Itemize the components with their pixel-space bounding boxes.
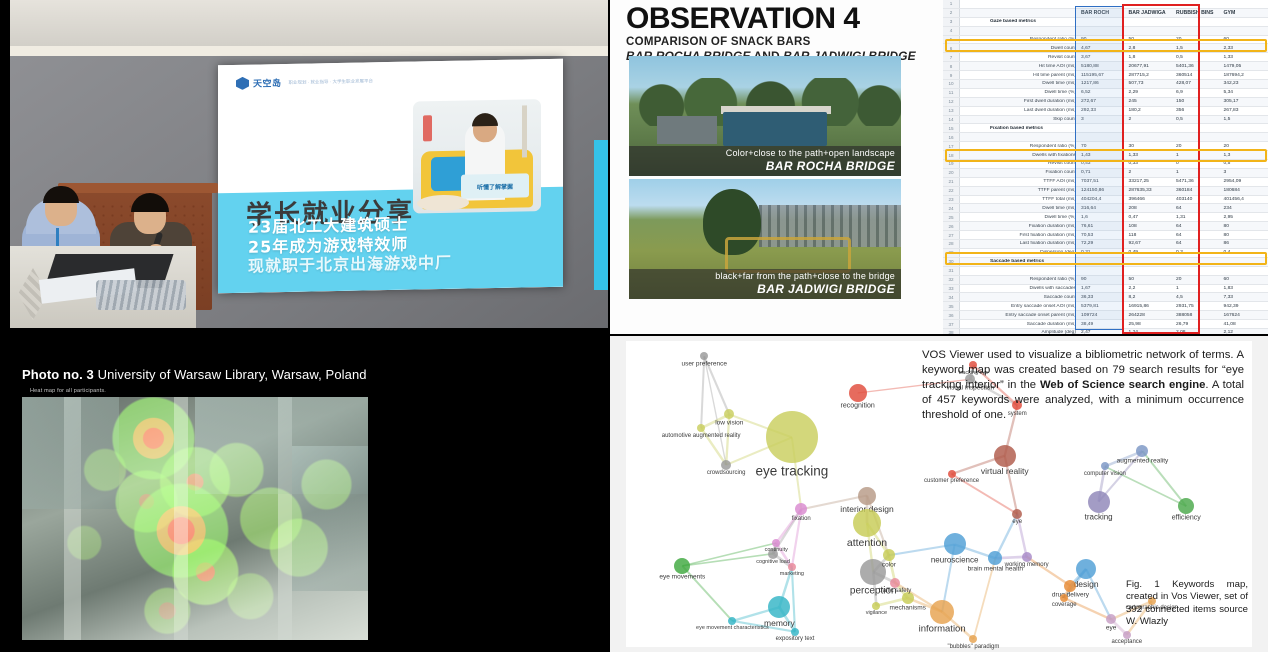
cell[interactable]: 33217,25 — [1126, 179, 1174, 184]
row-number: 30 — [943, 258, 960, 266]
row-number: 33 — [943, 285, 960, 293]
network-node[interactable] — [883, 549, 895, 561]
row-label: Dwell time (%) — [960, 215, 1078, 220]
cell[interactable]: 1,8 — [1126, 55, 1174, 60]
cell[interactable]: 0,43 — [1078, 161, 1126, 166]
heatmap-caption: Heat map for all participants. — [30, 388, 106, 394]
network-node[interactable] — [788, 563, 796, 571]
row-label: Fixation count — [960, 170, 1078, 175]
cell[interactable]: 64 — [1173, 241, 1221, 246]
cell[interactable]: 316,64 — [1078, 206, 1126, 211]
row-number: 37 — [943, 320, 960, 328]
row-number: 18 — [943, 151, 960, 159]
spreadsheet-row[interactable]: 15Fixation based metrics — [943, 124, 1268, 133]
cell[interactable]: 5,34 — [1221, 90, 1268, 95]
cell[interactable]: 2,29 — [1126, 90, 1174, 95]
cell[interactable]: 26,79 — [1173, 322, 1221, 327]
network-node[interactable] — [930, 600, 954, 624]
heatmap-title: Photo no. 3 University of Warsaw Library… — [22, 367, 367, 382]
spreadsheet-row[interactable]: 33Dwells with saccades1,672,211,83 — [943, 285, 1268, 294]
cell[interactable]: 388058 — [1173, 313, 1221, 318]
cell[interactable]: 1,5 — [1221, 117, 1268, 122]
cell[interactable]: 5401,36 — [1173, 64, 1221, 69]
row-number: 31 — [943, 267, 960, 275]
spreadsheet-row[interactable]: 20Fixation count0,71213 — [943, 169, 1268, 178]
row-label: Saccade based metrics — [960, 259, 1108, 264]
spreadsheet-row[interactable]: 6Dwell count4,672,81,52,33 — [943, 44, 1268, 53]
cell[interactable]: 208 — [1126, 206, 1174, 211]
row-number: 1 — [943, 0, 960, 8]
cell[interactable]: 1 — [1173, 153, 1221, 158]
network-node[interactable] — [768, 549, 778, 559]
cell[interactable]: 0 — [1173, 161, 1221, 166]
screenshot-collage: 天空岛 职业规划 · 就业指导 · 大学生职业发展平台 学长就业分享 23届北工… — [0, 0, 1268, 652]
network-node[interactable] — [890, 578, 900, 588]
cell[interactable]: 0,5 — [1173, 117, 1221, 122]
network-node[interactable] — [674, 558, 690, 574]
row-number: 29 — [943, 249, 960, 257]
cell[interactable]: 1 — [1173, 286, 1221, 291]
spreadsheet-row[interactable]: 28Last fixation duration (ms)72,2992,676… — [943, 240, 1268, 249]
photo-bar-rocha: Color+close to the path+open landscape B… — [629, 56, 901, 176]
row-number: 25 — [943, 213, 960, 221]
cell[interactable]: 0,5 — [1221, 161, 1268, 166]
cell[interactable]: 0,47 — [1126, 215, 1174, 220]
cell[interactable]: 20677,91 — [1126, 64, 1174, 69]
network-node[interactable] — [849, 384, 867, 402]
spreadsheet-row[interactable]: 8Hit time AOI (ms)5180,8820677,915401,36… — [943, 62, 1268, 71]
spreadsheet-row[interactable]: 38Amplitude (deg)2,471,242,082,12 — [943, 329, 1268, 334]
spreadsheet-row[interactable]: 23TTFF total (ms)404204,4396466403140401… — [943, 196, 1268, 205]
cell[interactable]: RUBBISH BINS — [1173, 10, 1221, 16]
spreadsheet-row[interactable]: 22TTFF parent (ms)124150,86287635,333601… — [943, 187, 1268, 196]
spreadsheet-row[interactable]: 10Dwell time (ms)1217,86507,73428,07342,… — [943, 80, 1268, 89]
network-node[interactable] — [1088, 491, 1110, 513]
spreadsheet-row[interactable]: 9Hit time parent (ms)115195,67287715,236… — [943, 71, 1268, 80]
cell[interactable]: 292,33 — [1078, 108, 1126, 113]
row-label: Entry saccade onset AOI (ms) — [960, 304, 1078, 309]
spreadsheet-row[interactable]: 34Saccade count36,338,24,57,33 — [943, 293, 1268, 302]
cell[interactable]: 180684 — [1221, 188, 1268, 193]
row-number: 22 — [943, 187, 960, 195]
network-node[interactable] — [728, 617, 736, 625]
row-number: 3 — [943, 18, 960, 26]
cell[interactable]: 2954,09 — [1221, 179, 1268, 184]
cell[interactable]: BAR JADWIGA — [1126, 10, 1174, 16]
cell[interactable]: 5180,88 — [1078, 64, 1126, 69]
row-label: Dwells with fixations — [960, 153, 1078, 158]
spreadsheet-row[interactable]: 24Dwell time (ms)316,6420864234 — [943, 204, 1268, 213]
cell[interactable]: 2 — [1126, 170, 1174, 175]
cell[interactable]: 72,29 — [1078, 241, 1126, 246]
row-label: Respondent ratio (%) — [960, 37, 1078, 42]
cell[interactable]: 20 — [1173, 37, 1221, 42]
row-number: 21 — [943, 178, 960, 186]
row-label: Gaze based metrics — [960, 19, 1108, 24]
spreadsheet-row[interactable]: 14Skip count320,51,5 — [943, 116, 1268, 125]
cell[interactable]: 115195,67 — [1078, 73, 1126, 78]
lecture-hall-photo: 天空岛 职业规划 · 就业指导 · 大学生职业发展平台 学长就业分享 23届北工… — [0, 0, 608, 334]
cell[interactable]: 25,98 — [1126, 322, 1174, 327]
row-number: 9 — [943, 71, 960, 79]
vos-viewer-slide: eye trackingvirtual realityinterior desi… — [626, 341, 1252, 647]
network-node[interactable] — [1101, 462, 1109, 470]
cell[interactable]: 80 — [1221, 233, 1268, 238]
row-label: Hit time AOI (ms) — [960, 64, 1078, 69]
cell[interactable]: 6,9 — [1173, 90, 1221, 95]
wall-upper — [0, 0, 608, 46]
network-node[interactable] — [1022, 552, 1032, 562]
spreadsheet-row[interactable]: 19Revisit count0,430,3300,5 — [943, 160, 1268, 169]
cell[interactable]: 2,33 — [1221, 46, 1268, 51]
photo-caption-name: BAR JADWIGI BRIDGE — [635, 282, 895, 296]
network-node[interactable] — [853, 509, 881, 537]
spreadsheet-row[interactable]: 5Respondent ratio (%)90502060 — [943, 36, 1268, 45]
cell[interactable]: 50 — [1126, 37, 1174, 42]
cell[interactable]: 90 — [1078, 37, 1126, 42]
heatmap-title-rest: University of Warsaw Library, Warsaw, Po… — [94, 367, 367, 382]
cell[interactable]: 1479,05 — [1221, 64, 1268, 69]
cell[interactable]: 180,2 — [1126, 108, 1174, 113]
row-number: 4 — [943, 27, 960, 35]
row-label: TTFF parent (ms) — [960, 188, 1078, 193]
cell[interactable]: 30 — [1126, 144, 1174, 149]
network-node[interactable] — [948, 470, 956, 478]
network-node[interactable] — [1136, 445, 1148, 457]
spreadsheet-row[interactable]: 7Revisit count3,671,80,51,33 — [943, 53, 1268, 62]
cell[interactable]: 150 — [1173, 99, 1221, 104]
cell[interactable]: 3 — [1221, 170, 1268, 175]
row-number: 12 — [943, 98, 960, 106]
cell[interactable]: 50 — [1126, 277, 1174, 282]
spreadsheet-row[interactable]: 26Fixation duration (ms)76,611086480 — [943, 222, 1268, 231]
spreadsheet-row[interactable]: 16 — [943, 133, 1268, 142]
cell[interactable]: 118 — [1126, 233, 1174, 238]
row-label: Fixation based metrics — [960, 126, 1108, 131]
network-node[interactable] — [766, 411, 818, 463]
cell[interactable]: 1,33 — [1126, 153, 1174, 158]
observation-subtitle: COMPARISON OF SNACK BARS — [626, 36, 926, 48]
network-node[interactable] — [1012, 509, 1022, 519]
cell[interactable]: 1,43 — [1078, 153, 1126, 158]
row-number: 11 — [943, 89, 960, 97]
gaze-heat-overlay — [22, 397, 368, 640]
cell[interactable]: 0,71 — [1078, 170, 1126, 175]
row-number: 2 — [943, 9, 960, 17]
cell[interactable]: 2931,75 — [1173, 304, 1221, 309]
quadrant-vos-viewer-slide: eye trackingvirtual realityinterior desi… — [610, 336, 1268, 652]
network-node[interactable] — [1178, 498, 1194, 514]
row-label: Respondent ratio (%) — [960, 144, 1078, 149]
spreadsheet-row[interactable]: 27First fixation duration (ms)70,5311864… — [943, 231, 1268, 240]
cell[interactable]: 360514 — [1173, 73, 1221, 78]
cell[interactable]: 1,24 — [1126, 330, 1174, 334]
cell[interactable]: 60 — [1221, 37, 1268, 42]
network-node[interactable] — [994, 445, 1016, 467]
network-node[interactable] — [1076, 559, 1096, 579]
spreadsheet-row[interactable]: 29Dispersion (deg)0,310,490,30,4 — [943, 249, 1268, 258]
row-label: Dwell time (ms) — [960, 206, 1078, 211]
cell[interactable]: 4,5 — [1173, 295, 1221, 300]
row-label: Last fixation duration (ms) — [960, 241, 1078, 246]
cell[interactable]: 36,33 — [1078, 295, 1126, 300]
photo-bar-jadwigi: black+far from the path+close to the bri… — [629, 179, 901, 299]
network-node[interactable] — [795, 503, 807, 515]
cell[interactable]: 20 — [1221, 144, 1268, 149]
cell[interactable]: 7,33 — [1221, 295, 1268, 300]
row-label: First dwell duration (ms) — [960, 99, 1078, 104]
cell[interactable]: 267,83 — [1221, 108, 1268, 113]
cell[interactable]: 1,67 — [1078, 286, 1126, 291]
row-number: 20 — [943, 169, 960, 177]
cell[interactable]: 6,52 — [1078, 90, 1126, 95]
cell[interactable]: 245 — [1126, 99, 1174, 104]
cell[interactable]: 305,17 — [1221, 99, 1268, 104]
row-label: TTFF AOI (ms) — [960, 179, 1078, 184]
network-node[interactable] — [858, 487, 876, 505]
spreadsheet-row[interactable]: 30Saccade based metrics — [943, 258, 1268, 267]
cell[interactable]: 1217,86 — [1078, 81, 1126, 86]
cell[interactable]: 76,61 — [1078, 224, 1126, 229]
row-number: 34 — [943, 293, 960, 301]
row-label: Entry saccade onset parent (ms) — [960, 313, 1078, 318]
cell[interactable]: 4,67 — [1078, 46, 1126, 51]
cell[interactable]: 428,07 — [1173, 81, 1221, 86]
cell[interactable]: 64 — [1173, 224, 1221, 229]
cell[interactable]: 8,2 — [1126, 295, 1174, 300]
row-label: Dispersion (deg) — [960, 250, 1078, 255]
network-node[interactable] — [969, 635, 977, 643]
network-node[interactable] — [768, 596, 790, 618]
slide-inset-photo: 听懂了解掌握 — [413, 99, 541, 213]
cell[interactable]: 360184 — [1173, 188, 1221, 193]
logo-text: 天空岛 — [253, 76, 282, 90]
cell[interactable]: 356 — [1173, 108, 1221, 113]
cell[interactable]: 1,3 — [1221, 153, 1268, 158]
spreadsheet-row[interactable]: 3Gaze based metrics — [943, 18, 1268, 27]
cell[interactable]: 108 — [1126, 224, 1174, 229]
row-number: 36 — [943, 311, 960, 319]
cell[interactable]: 0,4 — [1221, 250, 1268, 255]
cell[interactable]: 1,6 — [1078, 215, 1126, 220]
row-number: 27 — [943, 231, 960, 239]
spreadsheet-row[interactable]: 35Entry saccade onset AOI (ms)5379,81169… — [943, 302, 1268, 311]
row-label: Revisit count — [960, 55, 1078, 60]
cell[interactable]: 2,47 — [1078, 330, 1126, 334]
cell[interactable]: 38,49 — [1078, 322, 1126, 327]
cell[interactable]: 124150,86 — [1078, 188, 1126, 193]
spreadsheet-row[interactable]: 25Dwell time (%)1,60,471,312,95 — [943, 213, 1268, 222]
cell[interactable]: 1,83 — [1221, 286, 1268, 291]
network-node[interactable] — [872, 602, 880, 610]
network-node[interactable] — [988, 551, 1002, 565]
wall-trim — [0, 46, 608, 56]
cell[interactable]: 342,23 — [1221, 81, 1268, 86]
row-number: 5 — [943, 36, 960, 44]
network-node[interactable] — [1060, 594, 1068, 602]
logo-cube-icon — [236, 77, 249, 90]
cell[interactable]: 2,08 — [1173, 330, 1221, 334]
cell[interactable]: 80 — [1221, 224, 1268, 229]
cell[interactable]: 20 — [1173, 144, 1221, 149]
slide-bullet: 现就职于北京出海游戏中厂 — [248, 253, 452, 276]
row-number: 13 — [943, 107, 960, 115]
spreadsheet-row[interactable]: 4 — [943, 27, 1268, 36]
spreadsheet-row[interactable]: 17Respondent ratio (%)70302020 — [943, 142, 1268, 151]
row-number: 35 — [943, 302, 960, 310]
cell[interactable]: 64 — [1173, 206, 1221, 211]
cell[interactable]: 5471,36 — [1173, 179, 1221, 184]
network-node[interactable] — [1123, 631, 1131, 639]
cell[interactable]: 187694,2 — [1221, 73, 1268, 78]
cell[interactable]: 70,53 — [1078, 233, 1126, 238]
row-label: Fixation duration (ms) — [960, 224, 1078, 229]
row-number: 28 — [943, 240, 960, 248]
cell[interactable]: 287635,33 — [1126, 188, 1174, 193]
row-label: Dwell time (ms) — [960, 81, 1078, 86]
cell[interactable]: 92,67 — [1126, 241, 1174, 246]
cell[interactable]: 5379,81 — [1078, 304, 1126, 309]
row-number: 26 — [943, 222, 960, 230]
network-node[interactable] — [860, 559, 886, 585]
row-number: 24 — [943, 204, 960, 212]
row-number: 7 — [943, 53, 960, 61]
quadrant-heatmap-slide: Photo no. 3 University of Warsaw Library… — [0, 336, 608, 652]
metrics-spreadsheet[interactable]: 12BAR ROCHBAR JADWIGARUBBISH BINSGYM3Gaz… — [943, 0, 1268, 334]
cell[interactable]: 2,2 — [1126, 286, 1174, 291]
cell[interactable]: 2 — [1126, 117, 1174, 122]
cell[interactable]: 60 — [1221, 277, 1268, 282]
figure-caption: Fig. 1 Keywords map, created in Vos View… — [1126, 579, 1248, 628]
network-node[interactable] — [944, 533, 966, 555]
quadrant-observation-slide: OBSERVATION 4 COMPARISON OF SNACK BARS B… — [610, 0, 1268, 334]
cell[interactable]: 2,8 — [1126, 46, 1174, 51]
spreadsheet-row[interactable]: 32Respondent ratio (%)90502060 — [943, 276, 1268, 285]
inset-banner-text: 听懂了解掌握 — [477, 181, 513, 191]
row-label: Saccade count — [960, 295, 1078, 300]
photo-caption-text: Color+close to the path+open landscape — [635, 148, 895, 158]
network-node[interactable] — [700, 352, 708, 360]
row-label: Hit time parent (ms) — [960, 73, 1078, 78]
cell[interactable]: 167624 — [1221, 313, 1268, 318]
cell[interactable]: 2,95 — [1221, 215, 1268, 220]
row-number: 32 — [943, 276, 960, 284]
cell[interactable]: 396466 — [1126, 197, 1174, 202]
spreadsheet-row[interactable]: 12First dwell duration (ms)272,672451503… — [943, 98, 1268, 107]
row-label: Dwell time (%) — [960, 90, 1078, 95]
spreadsheet-row[interactable]: 1 — [943, 0, 1268, 9]
heatmap-title-bold: Photo no. 3 — [22, 367, 94, 382]
spreadsheet-row[interactable]: 2BAR ROCHBAR JADWIGARUBBISH BINSGYM — [943, 9, 1268, 18]
row-number: 23 — [943, 196, 960, 204]
network-node[interactable] — [791, 628, 799, 636]
cell[interactable]: 401456,4 — [1221, 197, 1268, 202]
spreadsheet-row[interactable]: 31 — [943, 267, 1268, 276]
slide-logo: 天空岛 职业规划 · 就业指导 · 大学生职业发展平台 — [236, 74, 373, 90]
row-number: 15 — [943, 124, 960, 132]
photo-caption-text: black+far from the path+close to the bri… — [635, 271, 895, 281]
cell[interactable]: 287715,2 — [1126, 73, 1174, 78]
blue-wall-edge — [594, 140, 608, 290]
spreadsheet-row[interactable]: 13Last dwell duration (ms)292,33180,2356… — [943, 107, 1268, 116]
row-number: 38 — [943, 329, 960, 334]
observation-photos: Color+close to the path+open landscape B… — [629, 56, 901, 299]
slide-bullets: 23届北工大建筑硕士 25年成为游戏特效师 现就职于北京出海游戏中厂 — [248, 214, 452, 276]
spreadsheet-row[interactable]: 11Dwell time (%)6,522,296,95,34 — [943, 89, 1268, 98]
cell[interactable]: 403140 — [1173, 197, 1221, 202]
row-number: 19 — [943, 160, 960, 168]
cell[interactable]: 64 — [1173, 233, 1221, 238]
inset-banner: 听懂了解掌握 — [461, 173, 529, 198]
cell[interactable]: 0,49 — [1126, 250, 1174, 255]
cell[interactable]: 1 — [1173, 170, 1221, 175]
cell[interactable]: 1,31 — [1173, 215, 1221, 220]
cell[interactable]: 507,73 — [1126, 81, 1174, 86]
network-node[interactable] — [1064, 580, 1076, 592]
spreadsheet-rows: 12BAR ROCHBAR JADWIGARUBBISH BINSGYM3Gaz… — [943, 0, 1268, 334]
row-number: 14 — [943, 116, 960, 124]
photo-caption: Color+close to the path+open landscape B… — [629, 146, 901, 176]
spreadsheet-row[interactable]: 21TTFF AOI (ms)7037,5133217,255471,36295… — [943, 178, 1268, 187]
cell[interactable]: 3 — [1078, 117, 1126, 122]
network-node[interactable] — [1106, 614, 1116, 624]
cell[interactable]: BAR ROCH — [1078, 10, 1126, 16]
cell[interactable]: 0,33 — [1126, 161, 1174, 166]
cell[interactable]: 16915,86 — [1126, 304, 1174, 309]
cell[interactable]: 109724 — [1078, 313, 1126, 318]
row-label: Last dwell duration (ms) — [960, 108, 1078, 113]
spreadsheet-row[interactable]: 36Entry saccade onset parent (ms)1097242… — [943, 311, 1268, 320]
cell[interactable]: 20 — [1173, 277, 1221, 282]
row-number: 16 — [943, 133, 960, 141]
spreadsheet-row[interactable]: 37Saccade duration (ms)38,4925,9826,7941… — [943, 320, 1268, 329]
cell[interactable]: 70 — [1078, 144, 1126, 149]
network-node[interactable] — [721, 460, 731, 470]
cell[interactable]: 264228 — [1126, 313, 1174, 318]
cell[interactable]: 0,31 — [1078, 250, 1126, 255]
cell[interactable]: 0,5 — [1173, 55, 1221, 60]
cell[interactable]: 272,67 — [1078, 99, 1126, 104]
row-label: Saccade duration (ms) — [960, 322, 1078, 327]
network-node[interactable] — [724, 409, 734, 419]
observation-title: OBSERVATION 4 — [626, 4, 926, 34]
cell[interactable]: 942,39 — [1221, 304, 1268, 309]
photo-caption-name: BAR ROCHA BRIDGE — [635, 159, 895, 173]
cell[interactable]: 2,12 — [1221, 330, 1268, 334]
cell[interactable]: 90 — [1078, 277, 1126, 282]
cell[interactable]: 1,33 — [1221, 55, 1268, 60]
cell[interactable]: 3,67 — [1078, 55, 1126, 60]
cell[interactable]: 7037,51 — [1078, 179, 1126, 184]
spreadsheet-row[interactable]: 18Dwells with fixations1,431,3311,3 — [943, 151, 1268, 160]
cell[interactable]: 0,3 — [1173, 250, 1221, 255]
cell[interactable]: 404204,4 — [1078, 197, 1126, 202]
cell[interactable]: 1,5 — [1173, 46, 1221, 51]
row-label: TTFF total (ms) — [960, 197, 1078, 202]
heatmap-image — [22, 397, 368, 640]
cell[interactable]: 234 — [1221, 206, 1268, 211]
network-node[interactable] — [772, 539, 780, 547]
cell[interactable]: 86 — [1221, 241, 1268, 246]
cell[interactable]: 41,08 — [1221, 322, 1268, 327]
photo-caption: black+far from the path+close to the bri… — [629, 269, 901, 299]
cell[interactable]: GYM — [1221, 10, 1268, 16]
vos-description: VOS Viewer used to visualize a bibliomet… — [922, 348, 1244, 423]
network-node[interactable] — [697, 424, 705, 432]
row-label: Amplitude (deg) — [960, 330, 1078, 334]
row-label: First fixation duration (ms) — [960, 233, 1078, 238]
network-node[interactable] — [902, 592, 914, 604]
